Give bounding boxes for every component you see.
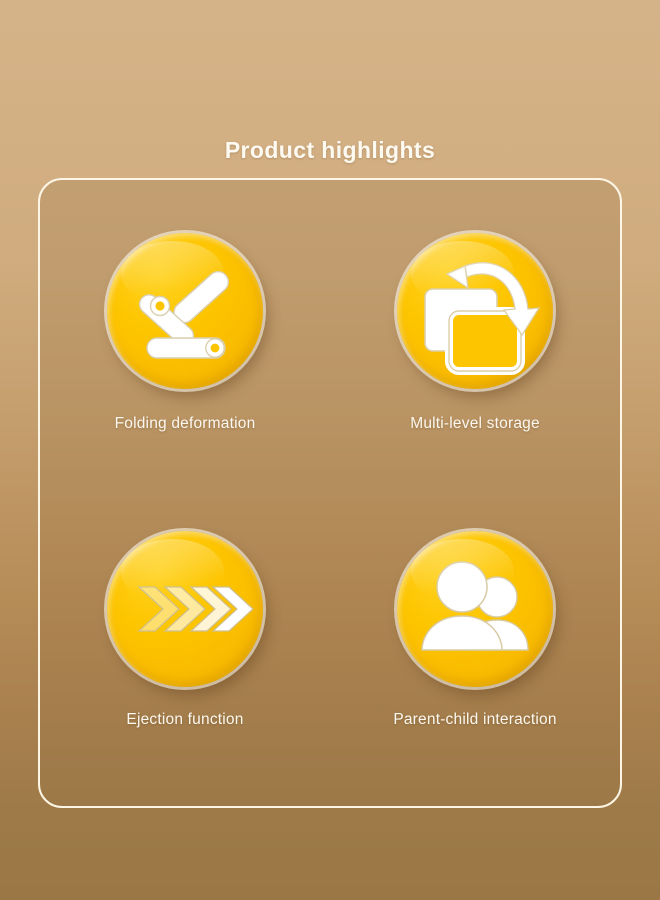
highlight-item-folding-deformation[interactable]: Folding deformation (40, 180, 330, 493)
highlight-label: Parent-child interaction (393, 711, 556, 729)
parent-child-interaction-badge[interactable] (397, 531, 553, 687)
multi-level-storage-badge[interactable] (397, 233, 553, 389)
highlight-item-ejection-function[interactable]: Ejection function (40, 493, 330, 806)
highlights-card: Folding deformation (38, 178, 622, 808)
highlight-item-parent-child-interaction[interactable]: Parent-child interaction (330, 493, 620, 806)
highlight-label: Folding deformation (115, 415, 256, 433)
highlight-item-multi-level-storage[interactable]: Multi-level storage (330, 180, 620, 493)
folding-deformation-badge[interactable] (107, 233, 263, 389)
folding-hinge-icon (107, 233, 263, 389)
highlight-label: Ejection function (126, 711, 243, 729)
highlight-label: Multi-level storage (410, 415, 540, 433)
stacked-squares-rotate-icon (397, 233, 553, 389)
chevrons-right-icon (107, 531, 263, 687)
two-people-icon (397, 531, 553, 687)
product-highlights-page: Product highlights (0, 0, 660, 900)
highlights-grid: Folding deformation (40, 180, 620, 806)
page-title: Product highlights (0, 137, 660, 164)
ejection-function-badge[interactable] (107, 531, 263, 687)
